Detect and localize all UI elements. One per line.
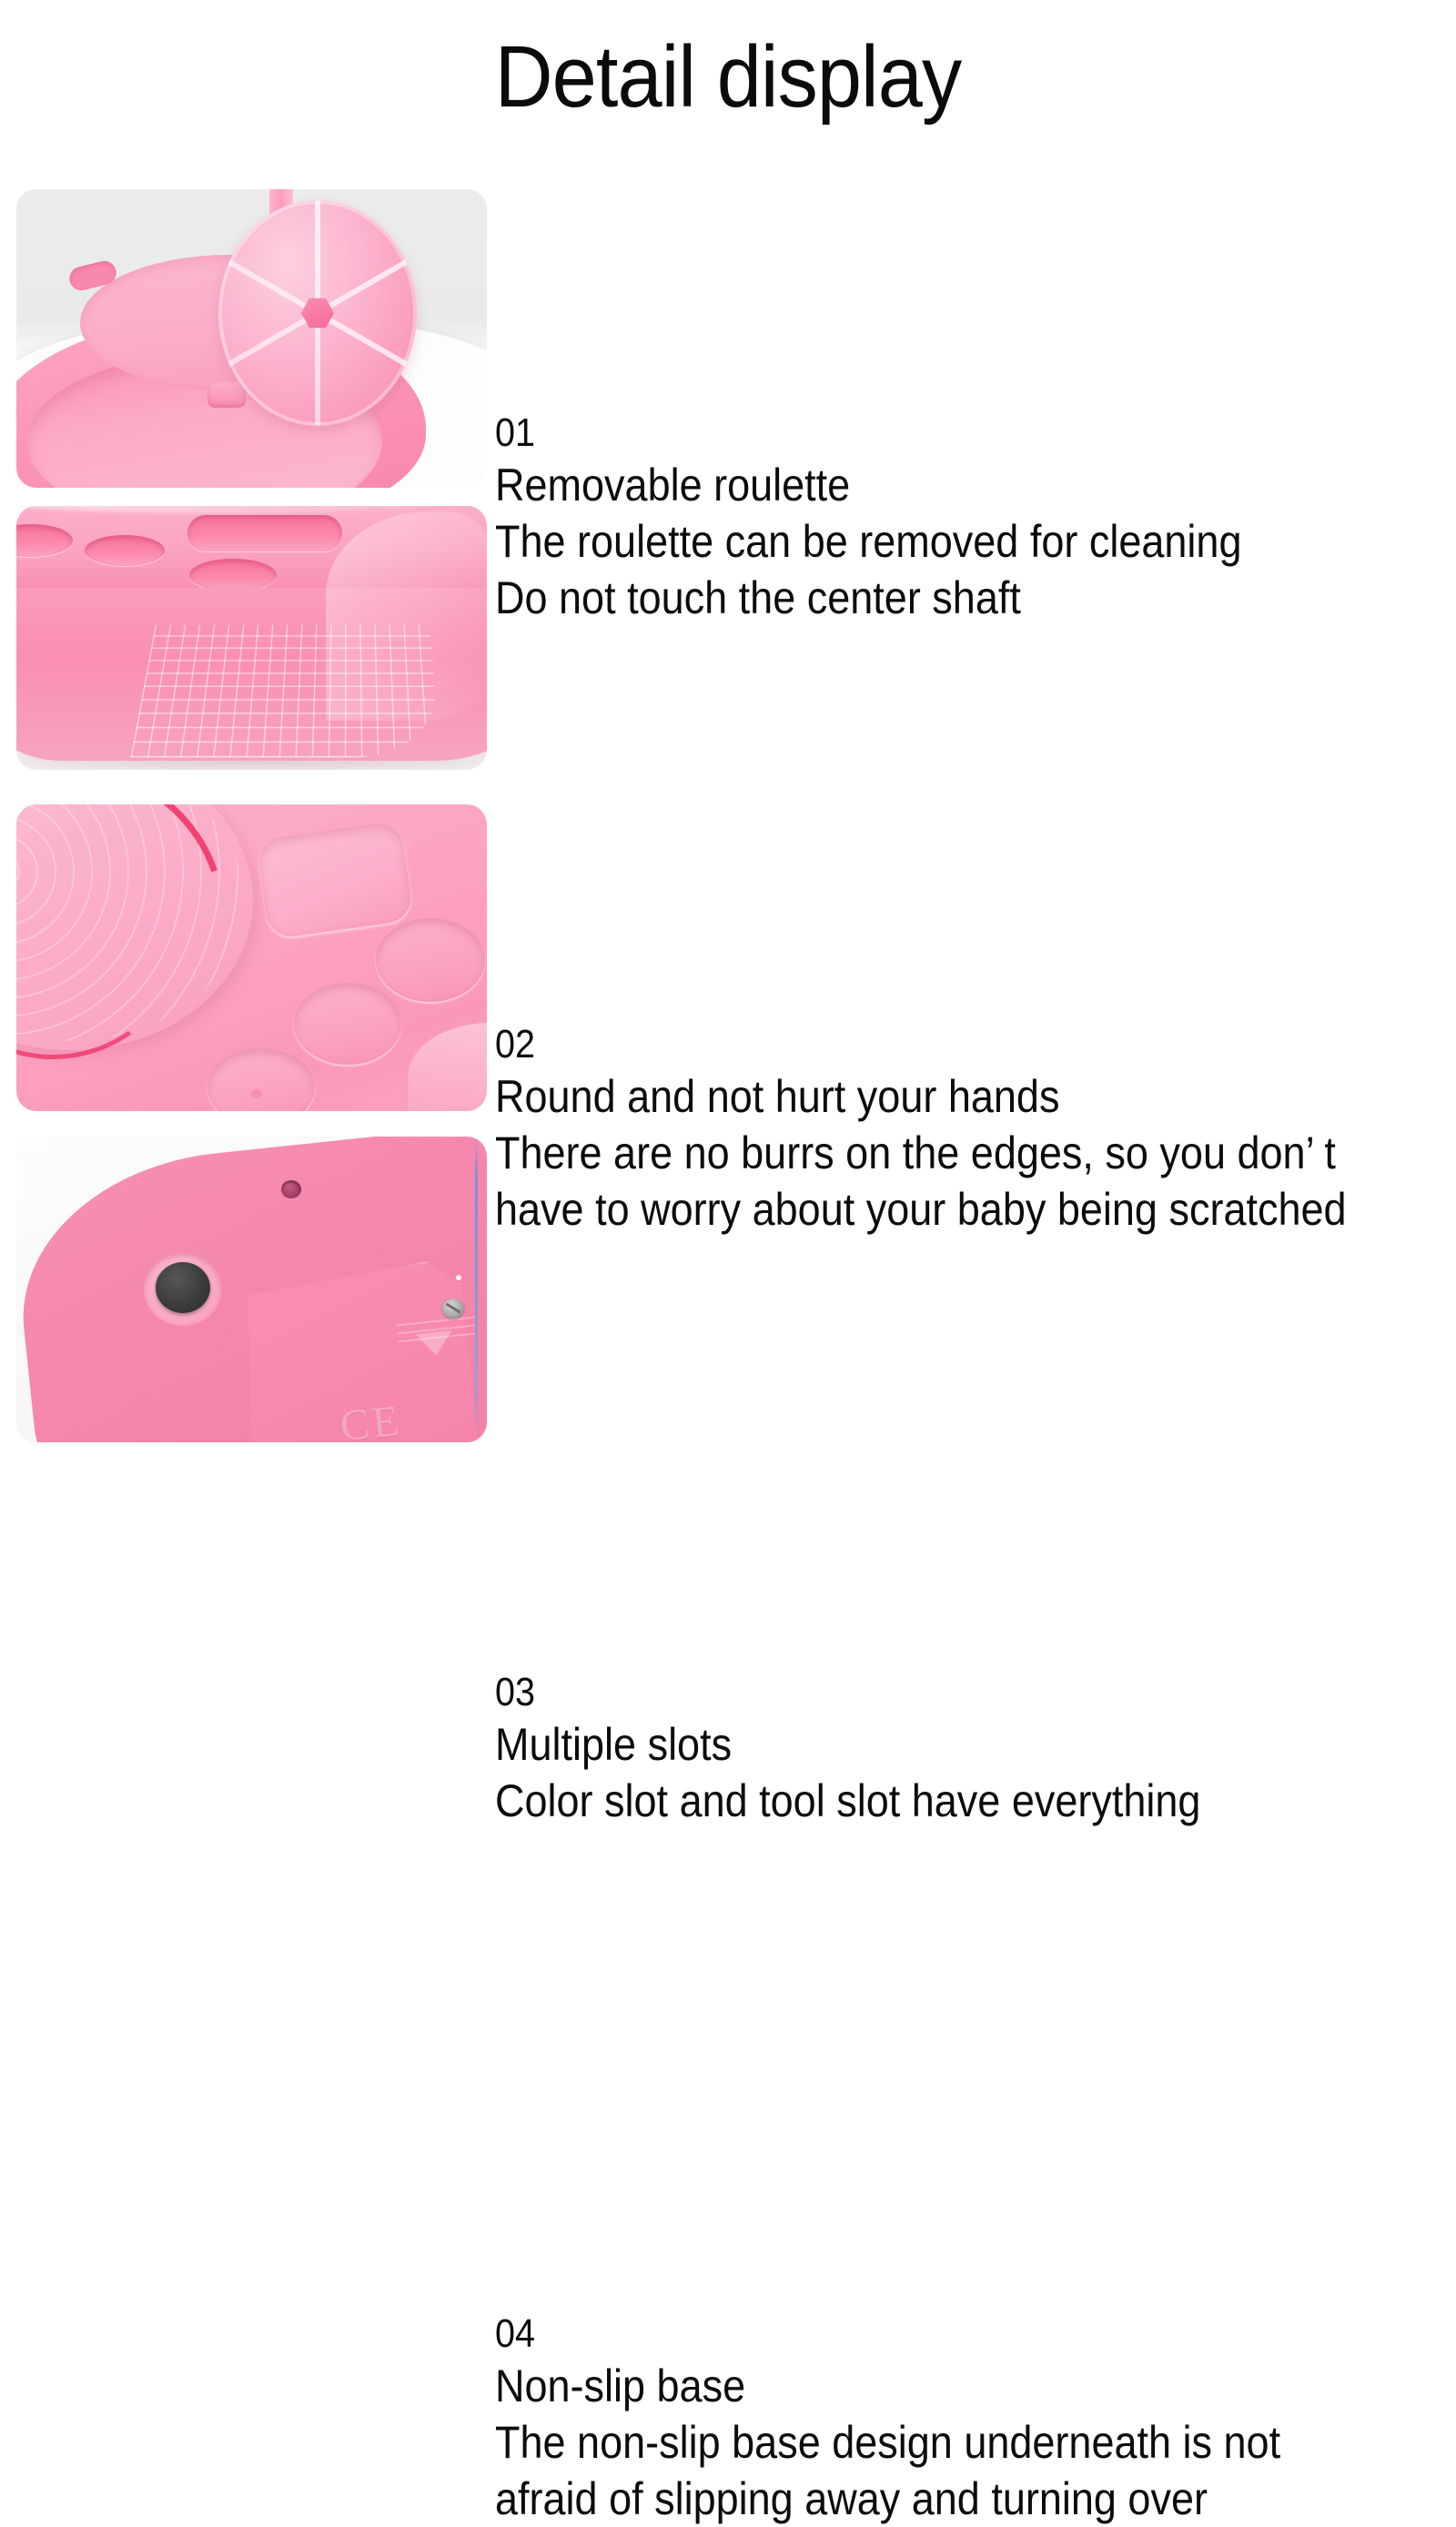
tool-slot (256, 820, 414, 939)
product-photo-non-slip-base: CE (16, 1137, 487, 1442)
detail-line-04-2: afraid of slipping away and turning over (495, 2471, 1355, 2527)
color-slot (85, 535, 165, 566)
color-slot (189, 559, 277, 591)
photo-scene-01 (16, 189, 487, 488)
detail-text-03: 03 Multiple slots Color slot and tool sl… (495, 1669, 1451, 1829)
detail-line-03-1: Color slot and tool slot have everything (495, 1773, 1355, 1829)
screw-icon (442, 1299, 464, 1319)
product-photo-removable-roulette (16, 189, 487, 488)
product-photo-rounded-edges (16, 506, 487, 770)
detail-section-04: CE 04 Non-slip base The non-slip base de… (0, 1137, 1456, 1442)
non-slip-rubber-foot (156, 1262, 210, 1313)
ce-mark: CE (339, 1400, 404, 1442)
detail-section-01: 01 Removable roulette The roulette can b… (0, 189, 1456, 488)
tool-slot (187, 515, 342, 551)
detail-section-03: 03 Multiple slots Color slot and tool sl… (0, 804, 1456, 1111)
product-photo-multiple-slots (16, 804, 487, 1111)
color-slot (376, 918, 485, 1002)
vent-hole (281, 1180, 301, 1198)
detail-text-04: 04 Non-slip base The non-slip base desig… (495, 2310, 1451, 2527)
color-slot (294, 983, 401, 1065)
color-slot (16, 524, 73, 557)
roulette-disc (218, 200, 417, 426)
triangle-arrow-icon (416, 1330, 454, 1358)
detail-heading-04: Non-slip base (495, 2358, 1355, 2414)
detail-line-04-1: The non-slip base design underneath is n… (495, 2414, 1355, 2471)
page-title: Detail display (58, 27, 1398, 127)
photo-scene-02 (16, 506, 487, 770)
photo-scene-04: CE (16, 1137, 487, 1442)
gloss-highlight (16, 506, 435, 513)
disc-hex-center (301, 297, 334, 329)
grid-texture (131, 624, 441, 757)
highlight-dot (456, 1275, 461, 1280)
detail-number-03: 03 (495, 1669, 1355, 1716)
detail-number-04: 04 (495, 2310, 1355, 2358)
photo-scene-03 (16, 804, 487, 1111)
slot-dimple (251, 1089, 262, 1098)
detail-number-01: 01 (495, 409, 1355, 457)
detail-heading-03: Multiple slots (495, 1716, 1355, 1773)
photo-edge-artifact (475, 1138, 478, 1439)
detail-section-02: 02 Round and not hurt your hands There a… (0, 506, 1456, 770)
detail-heading-01: Removable roulette (495, 457, 1355, 513)
center-shaft-hub (207, 382, 246, 408)
